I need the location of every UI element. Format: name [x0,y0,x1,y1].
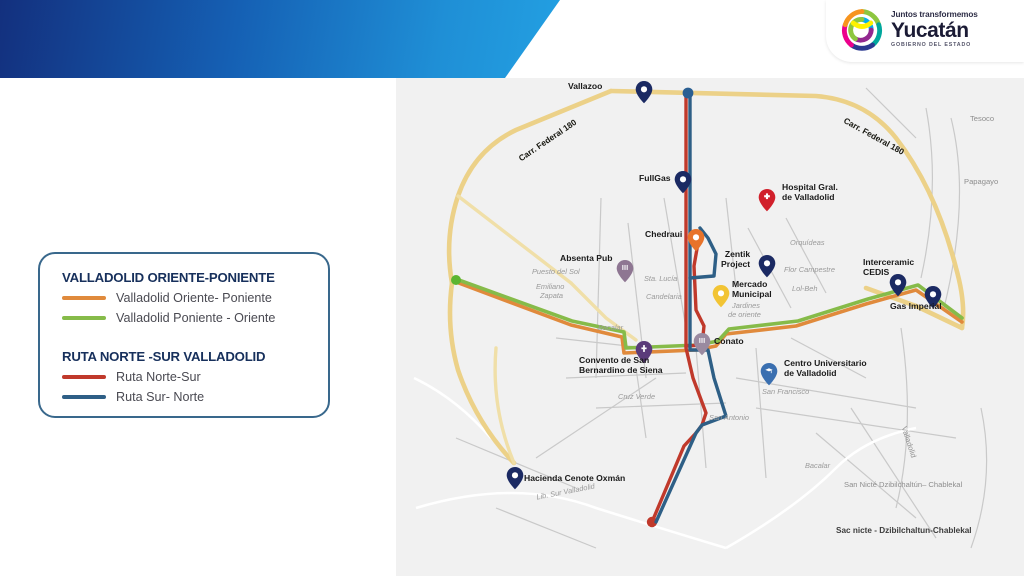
street-label-lol-beh: Lol-Beh [792,285,817,293]
poi-label-hacienda-cenote-oxman: Hacienda Cenote Oxmán [524,474,625,484]
legend-item-ruta-norte-sur: Ruta Norte-Sur [62,370,318,384]
street-label-bacalar-south: Bacalar [805,462,830,470]
poi-label-chedraui: Chedraui [645,230,682,240]
street-label-san-francisco: San Francisco [762,388,809,396]
legend-swatch-green [62,316,106,319]
legend-label-poniente-oriente: Valladolid Poniente - Oriente [116,311,275,325]
poi-label-zentik-line1: Zentik [725,249,750,259]
legend-swatch-blue [62,395,106,398]
poi-label-interceramic-line1: Interceramic [863,257,914,267]
poi-label-interceramic-line2: CEDIS [863,267,889,277]
route-west-terminus-dot [451,275,461,285]
street-label-orquideas: Orquídeas [790,239,825,247]
legend-item-valladolid-oriente-poniente: Valladolid Oriente- Poniente [62,291,318,305]
poi-label-hospital-line2: de Valladolid [782,192,835,202]
poi-label-hospital: Hospital Gral. de Valladolid [782,183,838,202]
poi-label-interceramic-cedis: Interceramic CEDIS [863,258,914,277]
poi-label-convento-line2: Bernardino de Siena [579,365,663,375]
legend-swatch-orange [62,296,106,299]
street-label-tesoco: Tesoco [970,115,994,124]
yucatan-logo: Juntos transformemos Yucatán GOBIERNO DE… [826,0,1024,62]
poi-label-fullgas: FullGas [639,174,671,184]
street-label-san-antonio: San Antonio [709,414,749,422]
legend-heading-oriente-poniente: VALLADOLID ORIENTE-PONIENTE [62,270,318,285]
poi-label-zentik-line2: Project [721,259,750,269]
label-sac-nicte-dzibilchaltun-chablekal: Sac nicte - Dzibilchaltun-Chablekal [836,526,972,535]
street-label-bacalar-north: Bacalar [598,324,623,332]
yucatan-emblem-icon [840,8,884,52]
logo-name: Yucatán [891,20,978,41]
label-san-nicte-dzibilchaltun-chablekal: San Nicté Dzibilchaltún– Chablekal [844,481,962,490]
legend-item-ruta-sur-norte: Ruta Sur- Norte [62,390,318,404]
route-map[interactable]: Vallazoo FullGas Chedraui Absenta Pub Ho… [396,78,1024,576]
poi-label-centro-line2: de Valladolid [784,368,837,378]
slide-root: RUTAS VALLADOLID Juntos transformemos [0,0,1024,576]
poi-label-vallazoo: Vallazoo [568,82,602,92]
poi-label-centro-line1: Centro Universitario [784,358,867,368]
legend-item-valladolid-poniente-oriente: Valladolid Poniente - Oriente [62,311,318,325]
poi-label-gas-imperial: Gas Imperial [890,302,942,312]
poi-label-mercado-line1: Mercado [732,279,767,289]
poi-label-mercado-municipal: Mercado Municipal [732,280,772,299]
street-label-cruz-verde: Cruz Verde [618,393,655,401]
logo-subtitle: GOBIERNO DEL ESTADO [891,43,978,48]
route-norte-sur [652,92,706,522]
street-label-papagayo: Papagayo [964,178,998,187]
poi-label-centro-universitario: Centro Universitario de Valladolid [784,359,867,378]
street-label-puesto-del-sol: Puesto del Sol [532,268,580,276]
route-legend: VALLADOLID ORIENTE-PONIENTE Valladolid O… [38,252,330,418]
title-banner [0,0,560,78]
poi-label-convento: Convento de San Bernardino de Siena [579,356,663,375]
poi-label-convento-line1: Convento de San [579,355,649,365]
street-label-de-oriente: de oriente [728,311,761,319]
street-label-sta-lucia: Sta. Lucía [644,275,677,283]
poi-label-hospital-line1: Hospital Gral. [782,182,838,192]
poi-label-conato: Conato [714,337,744,347]
legend-label-sur-norte: Ruta Sur- Norte [116,390,204,404]
legend-heading-norte-sur: RUTA NORTE -SUR VALLADOLID [62,349,318,364]
street-label-candelaria: Candelaria [646,293,682,301]
street-label-flor-campestre: Flor Campestre [784,266,835,274]
logo-tagline: Juntos transformemos [891,11,978,19]
poi-label-mercado-line2: Municipal [732,289,772,299]
street-label-zapata: Zapata [540,292,563,300]
legend-label-oriente-poniente: Valladolid Oriente- Poniente [116,291,272,305]
route-sur-norte [656,92,726,522]
legend-swatch-red [62,375,106,378]
route-poniente-oriente [456,279,962,348]
poi-label-absenta-pub: Absenta Pub [560,254,613,264]
legend-label-norte-sur: Ruta Norte-Sur [116,370,201,384]
route-north-terminus-dot [683,88,694,99]
poi-label-zentik-project: Zentik Project [721,250,750,269]
map-graphics [396,78,1024,576]
white-roads [414,378,916,548]
